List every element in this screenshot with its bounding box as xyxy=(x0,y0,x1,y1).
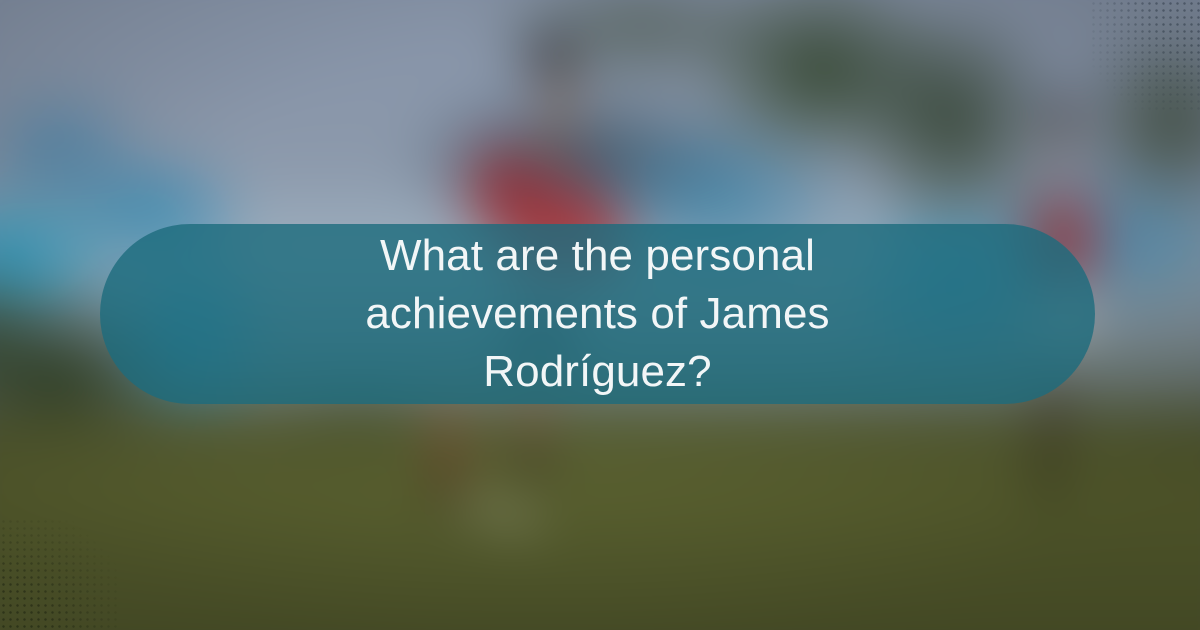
question-card: What are the personal achievements of Ja… xyxy=(100,224,1095,404)
question-title: What are the personal achievements of Ja… xyxy=(248,227,948,401)
og-image-canvas: What are the personal achievements of Ja… xyxy=(0,0,1200,630)
